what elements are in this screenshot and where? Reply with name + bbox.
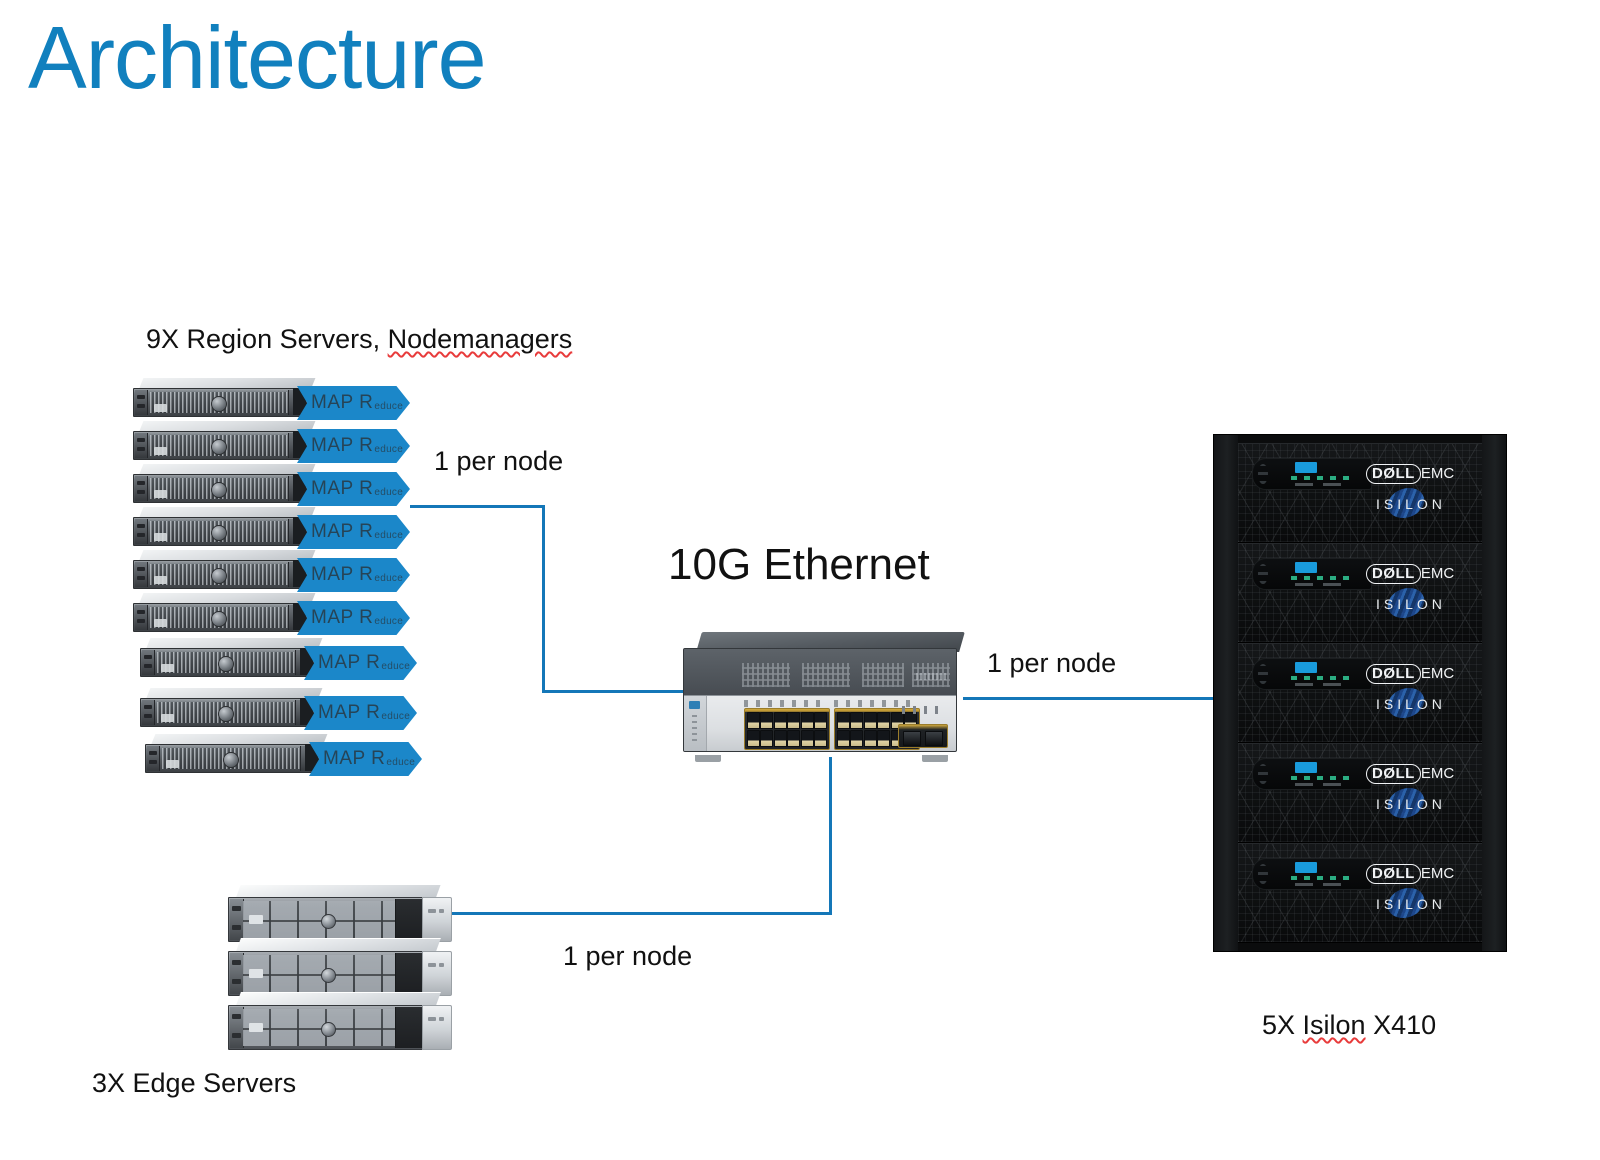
mapreduce-banner: MAP Reduce bbox=[304, 696, 417, 730]
mapreduce-banner-big: MAP R bbox=[323, 748, 385, 770]
switch-power-led bbox=[689, 701, 700, 709]
switch-port[interactable] bbox=[814, 730, 827, 747]
connector-edge-to-switch-horizontal bbox=[423, 912, 832, 915]
mapreduce-banner: MAP Reduce bbox=[297, 558, 410, 592]
server-front-panel bbox=[145, 744, 315, 773]
server-ear-left bbox=[230, 899, 244, 940]
isilon-lcd-panel[interactable] bbox=[1252, 858, 1372, 890]
dell-emc-logo: DØLLEMC bbox=[1366, 664, 1454, 684]
mapreduce-banner-small: educe bbox=[374, 487, 403, 506]
emc-logo-text: EMC bbox=[1421, 565, 1454, 582]
dell-emc-logo: DØLLEMC bbox=[1366, 464, 1454, 484]
server-ear-left bbox=[135, 562, 148, 587]
mapreduce-banner-small: educe bbox=[374, 530, 403, 549]
switch-port-block-1[interactable] bbox=[744, 708, 830, 750]
server-control-panel bbox=[422, 1005, 452, 1050]
switch-port-row bbox=[747, 712, 827, 728]
isilon-label-prefix: 5X bbox=[1262, 1010, 1303, 1040]
isilon-lcd-indicators bbox=[1291, 476, 1353, 480]
server-badge bbox=[154, 447, 167, 455]
switch-port[interactable] bbox=[877, 730, 890, 747]
server-knob bbox=[321, 914, 336, 929]
server-knob bbox=[218, 706, 234, 722]
region-server-node[interactable] bbox=[140, 637, 320, 677]
region-server-node[interactable] bbox=[133, 420, 313, 460]
connector-switch-to-isilon bbox=[963, 697, 1215, 700]
edge-server-node[interactable] bbox=[228, 884, 438, 942]
rack-rail-right bbox=[1482, 435, 1506, 951]
switch-port[interactable] bbox=[801, 712, 814, 729]
mapreduce-banner-big: MAP R bbox=[311, 607, 373, 629]
isilon-product-name: ISILON bbox=[1376, 596, 1446, 612]
server-knob bbox=[211, 396, 227, 412]
server-front-panel bbox=[228, 951, 426, 996]
server-knob bbox=[223, 752, 239, 768]
server-ear-left bbox=[142, 650, 155, 675]
switch-port-panel bbox=[684, 695, 956, 751]
mapreduce-banner-small: educe bbox=[374, 616, 403, 635]
mapreduce-banner: MAP Reduce bbox=[297, 515, 410, 549]
region-server-node[interactable] bbox=[145, 733, 325, 773]
mapreduce-banner-small: educe bbox=[374, 401, 403, 420]
region-server-node[interactable] bbox=[133, 506, 313, 546]
server-ear-left bbox=[230, 953, 244, 994]
mapreduce-banner: MAP Reduce bbox=[297, 386, 410, 420]
mapreduce-banner-big: MAP R bbox=[311, 392, 373, 414]
isilon-lcd-screen bbox=[1295, 762, 1317, 773]
server-knob bbox=[211, 482, 227, 498]
isilon-lcd-indicators bbox=[1291, 676, 1353, 680]
server-badge bbox=[154, 533, 167, 541]
isilon-rack[interactable]: DØLLEMC ISILON DØLLEMC ISILON DØLLEMC bbox=[1213, 434, 1507, 952]
server-drive-bays bbox=[243, 901, 395, 938]
emc-logo-text: EMC bbox=[1421, 765, 1454, 782]
mapreduce-banner: MAP Reduce bbox=[297, 429, 410, 463]
isilon-chassis[interactable]: DØLLEMC ISILON bbox=[1238, 743, 1482, 843]
isilon-lcd-panel[interactable] bbox=[1252, 658, 1372, 690]
server-right-panel bbox=[395, 1007, 424, 1048]
server-badge bbox=[161, 664, 174, 672]
switch-port[interactable] bbox=[774, 712, 787, 729]
isilon-lcd-buttons[interactable] bbox=[1258, 664, 1268, 684]
isilon-lcd-softkeys[interactable] bbox=[1295, 883, 1351, 886]
server-control-panel bbox=[422, 951, 452, 996]
switch-sfp-uplink-block[interactable] bbox=[898, 724, 948, 748]
mapreduce-banner: MAP Reduce bbox=[297, 601, 410, 635]
mapreduce-banner-small: educe bbox=[386, 757, 415, 776]
dell-logo-text: DØLL bbox=[1366, 464, 1421, 484]
rack-rail-left bbox=[1214, 435, 1238, 951]
server-control-panel bbox=[422, 897, 452, 942]
server-front-panel bbox=[133, 603, 303, 632]
isilon-lcd-panel[interactable] bbox=[1252, 558, 1372, 590]
isilon-lcd-screen bbox=[1295, 462, 1317, 473]
server-badge bbox=[166, 760, 179, 768]
switch-port-labels bbox=[744, 700, 828, 707]
switch-vent-grid bbox=[802, 663, 850, 687]
mapreduce-banner-small: educe bbox=[381, 711, 410, 730]
isilon-lcd-buttons[interactable] bbox=[1258, 864, 1268, 884]
isilon-chassis[interactable]: DØLLEMC ISILON bbox=[1238, 843, 1482, 943]
switch-port[interactable] bbox=[864, 730, 877, 747]
server-front-panel bbox=[133, 431, 303, 460]
server-badge bbox=[249, 969, 263, 978]
isilon-lcd-softkeys[interactable] bbox=[1295, 783, 1351, 786]
mapreduce-banner-small: educe bbox=[374, 444, 403, 463]
mapreduce-banner-big: MAP R bbox=[311, 521, 373, 543]
mapreduce-banner: MAP Reduce bbox=[297, 472, 410, 506]
server-badge bbox=[154, 619, 167, 627]
isilon-chassis[interactable]: DØLLEMC ISILON bbox=[1238, 543, 1482, 643]
isilon-lcd-indicators bbox=[1291, 776, 1353, 780]
server-badge bbox=[154, 490, 167, 498]
dell-emc-logo: DØLLEMC bbox=[1366, 764, 1454, 784]
per-node-label-bottom: 1 per node bbox=[563, 941, 692, 972]
edge-server-node[interactable] bbox=[228, 938, 438, 996]
server-knob bbox=[211, 611, 227, 627]
switch-foot bbox=[922, 755, 948, 762]
switch-port[interactable] bbox=[850, 712, 863, 729]
server-ear-left bbox=[135, 605, 148, 630]
switch-status-bar bbox=[684, 696, 707, 751]
switch-port[interactable] bbox=[774, 730, 787, 747]
connector-region-to-switch-bottom bbox=[542, 690, 687, 693]
isilon-chassis[interactable]: DØLLEMC ISILON bbox=[1238, 443, 1482, 543]
switch-port-row bbox=[747, 730, 827, 746]
server-badge bbox=[161, 714, 174, 722]
switch-port[interactable] bbox=[864, 712, 877, 729]
switch-uplink-leds bbox=[902, 706, 942, 714]
region-server-node[interactable] bbox=[133, 549, 313, 589]
switch-vent-grid bbox=[862, 663, 904, 687]
isilon-lcd-buttons[interactable] bbox=[1258, 464, 1268, 484]
isilon-lcd-panel[interactable] bbox=[1252, 758, 1372, 790]
network-switch[interactable] bbox=[683, 632, 966, 756]
server-front-panel bbox=[140, 648, 310, 677]
server-ear-left bbox=[230, 1007, 244, 1048]
switch-port[interactable] bbox=[877, 712, 890, 729]
server-ear-left bbox=[135, 390, 148, 415]
switch-port[interactable] bbox=[787, 730, 800, 747]
edge-servers-label: 3X Edge Servers bbox=[92, 1068, 296, 1099]
server-drive-bays bbox=[243, 955, 395, 992]
mapreduce-banner: MAP Reduce bbox=[309, 742, 422, 776]
server-right-panel bbox=[395, 899, 424, 940]
server-front-panel bbox=[133, 560, 303, 589]
switch-indicator-leds bbox=[692, 715, 697, 741]
connector-region-to-switch-vertical bbox=[542, 505, 545, 692]
server-front-panel bbox=[133, 517, 303, 546]
region-server-node[interactable] bbox=[133, 463, 313, 503]
emc-logo-text: EMC bbox=[1421, 465, 1454, 482]
dell-logo-text: DØLL bbox=[1366, 564, 1421, 584]
server-badge bbox=[154, 576, 167, 584]
mapreduce-banner-big: MAP R bbox=[311, 435, 373, 457]
server-drive-bays bbox=[243, 1009, 395, 1046]
switch-port[interactable] bbox=[760, 712, 773, 729]
switch-port[interactable] bbox=[814, 712, 827, 729]
switch-port[interactable] bbox=[801, 730, 814, 747]
server-knob bbox=[211, 525, 227, 541]
switch-chassis bbox=[683, 648, 957, 752]
dell-logo-text: DØLL bbox=[1366, 664, 1421, 684]
isilon-chassis[interactable]: DØLLEMC ISILON bbox=[1238, 643, 1482, 743]
region-servers-label: 9X Region Servers, Nodemanagers bbox=[146, 324, 572, 355]
isilon-lcd-buttons[interactable] bbox=[1258, 564, 1268, 584]
architecture-slide: Architecture 9X Region Servers, Nodemana… bbox=[0, 0, 1600, 1160]
isilon-lcd-indicators bbox=[1291, 576, 1353, 580]
isilon-lcd-softkeys[interactable] bbox=[1295, 683, 1351, 686]
per-node-label-top: 1 per node bbox=[434, 446, 563, 477]
switch-port[interactable] bbox=[837, 730, 850, 747]
isilon-lcd-indicators bbox=[1291, 876, 1353, 880]
isilon-lcd-softkeys[interactable] bbox=[1295, 483, 1351, 486]
server-knob bbox=[218, 656, 234, 672]
isilon-label-misspelled: Isilon bbox=[1303, 1010, 1366, 1040]
mapreduce-banner-small: educe bbox=[381, 661, 410, 680]
region-servers-label-misspelled: Nodemanagers bbox=[388, 324, 573, 354]
mapreduce-banner-big: MAP R bbox=[318, 702, 380, 724]
server-front-panel bbox=[133, 388, 303, 417]
region-servers-label-text: 9X Region Servers, bbox=[146, 324, 388, 354]
switch-port[interactable] bbox=[850, 730, 863, 747]
emc-logo-text: EMC bbox=[1421, 865, 1454, 882]
switch-port[interactable] bbox=[747, 712, 760, 729]
isilon-lcd-screen bbox=[1295, 662, 1317, 673]
network-label: 10G Ethernet bbox=[668, 540, 930, 590]
server-ear-left bbox=[147, 746, 160, 771]
isilon-product-name: ISILON bbox=[1376, 696, 1446, 712]
isilon-lcd-buttons[interactable] bbox=[1258, 764, 1268, 784]
server-front-panel bbox=[228, 1005, 426, 1050]
isilon-rack-label: 5X Isilon X410 bbox=[1262, 1010, 1436, 1041]
server-right-panel bbox=[395, 953, 424, 994]
server-ear-left bbox=[142, 700, 155, 725]
isilon-product-name: ISILON bbox=[1376, 796, 1446, 812]
mapreduce-banner-small: educe bbox=[374, 573, 403, 592]
switch-vent-grid bbox=[742, 663, 790, 687]
server-ear-left bbox=[135, 476, 148, 501]
server-badge bbox=[154, 404, 167, 412]
isilon-product-name: ISILON bbox=[1376, 496, 1446, 512]
region-server-node[interactable] bbox=[133, 592, 313, 632]
connector-edge-to-switch-vertical bbox=[829, 757, 832, 915]
switch-brand-mark bbox=[916, 673, 946, 680]
mapreduce-banner: MAP Reduce bbox=[304, 646, 417, 680]
server-knob bbox=[211, 439, 227, 455]
isilon-label-suffix: X410 bbox=[1366, 1010, 1437, 1040]
dell-emc-logo: DØLLEMC bbox=[1366, 864, 1454, 884]
switch-port[interactable] bbox=[747, 730, 760, 747]
isilon-lcd-softkeys[interactable] bbox=[1295, 583, 1351, 586]
dell-emc-logo: DØLLEMC bbox=[1366, 564, 1454, 584]
region-server-node[interactable] bbox=[140, 687, 320, 727]
dell-logo-text: DØLL bbox=[1366, 764, 1421, 784]
switch-foot bbox=[695, 755, 721, 762]
edge-server-node[interactable] bbox=[228, 992, 438, 1050]
server-front-panel bbox=[228, 897, 426, 942]
server-front-panel bbox=[140, 698, 310, 727]
page-title: Architecture bbox=[28, 12, 486, 104]
server-front-panel bbox=[133, 474, 303, 503]
isilon-product-name: ISILON bbox=[1376, 896, 1446, 912]
switch-port[interactable] bbox=[760, 730, 773, 747]
server-knob bbox=[211, 568, 227, 584]
mapreduce-banner-big: MAP R bbox=[311, 564, 373, 586]
server-knob bbox=[321, 1022, 336, 1037]
connector-region-to-switch-top bbox=[410, 505, 545, 508]
server-ear-left bbox=[135, 519, 148, 544]
mapreduce-banner-big: MAP R bbox=[311, 478, 373, 500]
emc-logo-text: EMC bbox=[1421, 665, 1454, 682]
region-server-node[interactable] bbox=[133, 377, 313, 417]
mapreduce-banner-big: MAP R bbox=[318, 652, 380, 674]
server-badge bbox=[249, 915, 263, 924]
server-knob bbox=[321, 968, 336, 983]
switch-port[interactable] bbox=[787, 712, 800, 729]
dell-logo-text: DØLL bbox=[1366, 864, 1421, 884]
isilon-lcd-screen bbox=[1295, 862, 1317, 873]
per-node-label-right: 1 per node bbox=[987, 648, 1116, 679]
isilon-lcd-screen bbox=[1295, 562, 1317, 573]
isilon-lcd-panel[interactable] bbox=[1252, 458, 1372, 490]
server-badge bbox=[249, 1023, 263, 1032]
server-ear-left bbox=[135, 433, 148, 458]
switch-port[interactable] bbox=[837, 712, 850, 729]
